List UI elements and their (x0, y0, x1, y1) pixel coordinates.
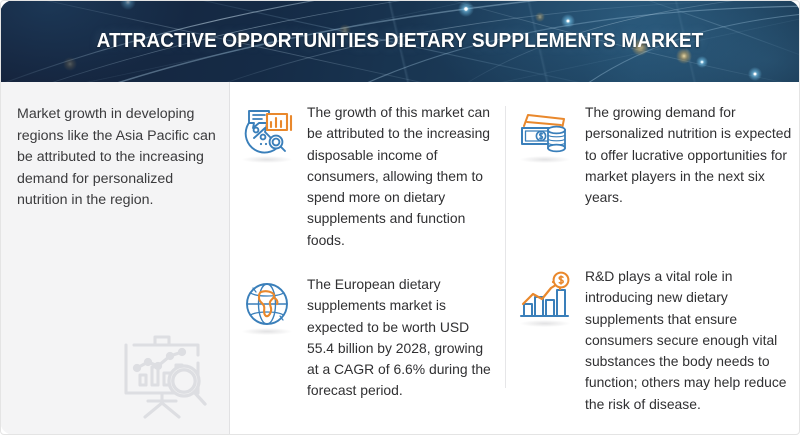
icon-shadow (242, 328, 292, 335)
page-title: ATTRACTIVE OPPORTUNITIES DIETARY SUPPLEM… (28, 29, 772, 53)
insight-card-text: The growing demand for personalized nutr… (585, 100, 794, 208)
presentation-chart-magnifier-icon (112, 323, 212, 423)
insight-card-text: The growth of this market can be attribu… (307, 100, 498, 251)
insight-card: R&D plays a vital role in introducing ne… (514, 264, 794, 415)
body-area: Market growth in developing regions like… (0, 82, 800, 435)
icon-shadow (520, 320, 570, 327)
insight-card: The growth of this market can be attribu… (236, 100, 498, 251)
region-intro-text: Market growth in developing regions like… (17, 104, 217, 212)
insight-card: The European dietary supplements market … (236, 272, 498, 402)
region-panel: Market growth in developing regions like… (0, 82, 230, 435)
growth-bar-chart-dollar-icon (514, 266, 576, 328)
insight-card: The growing demand for personalized nutr… (514, 100, 794, 208)
cash-coins-icon (514, 102, 576, 164)
globe-icon (236, 274, 298, 336)
icon-shadow (242, 156, 292, 163)
insight-card-text: The European dietary supplements market … (307, 272, 498, 402)
insight-card-text: R&D plays a vital role in introducing ne… (585, 264, 794, 415)
cards-grid: The growth of this market can be attribu… (230, 82, 800, 435)
infographic-root: ATTRACTIVE OPPORTUNITIES DIETARY SUPPLEM… (0, 0, 800, 435)
column-divider (505, 106, 506, 388)
market-analysis-percent-icon (236, 102, 298, 164)
header-banner: ATTRACTIVE OPPORTUNITIES DIETARY SUPPLEM… (0, 0, 800, 82)
icon-shadow (520, 156, 570, 163)
